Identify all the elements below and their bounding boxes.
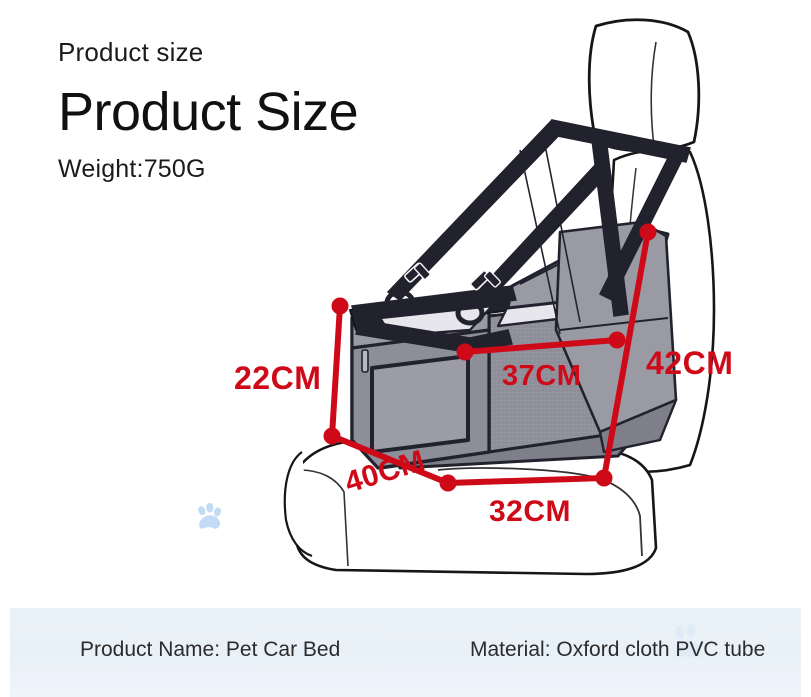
dimension-label-base-width: 32CM: [489, 495, 571, 529]
bed-zipper-tab: [362, 350, 368, 372]
dim-line-22: [332, 306, 340, 436]
dimension-label-height: 22CM: [234, 360, 321, 397]
product-illustration: [0, 0, 811, 610]
footer-info-bar: Product Name: Pet Car Bed Material: Oxfo…: [10, 608, 801, 697]
footer-product-name: Product Name: Pet Car Bed: [80, 638, 340, 662]
dimension-label-inner-width: 37CM: [502, 360, 581, 393]
dim-dot-37-right: [609, 332, 625, 348]
product-size-infographic: Product size Product Size Weight:750G: [0, 0, 811, 697]
dim-dot-22-top: [332, 298, 348, 314]
paw-print-icon: [192, 500, 226, 534]
bed-pocket-left: [372, 356, 468, 452]
dimension-label-back-height: 42CM: [646, 345, 733, 382]
footer-material: Material: Oxford cloth PVC tube: [470, 638, 765, 662]
dim-dot-37-left: [457, 344, 473, 360]
dim-dot-42-top: [640, 224, 656, 240]
